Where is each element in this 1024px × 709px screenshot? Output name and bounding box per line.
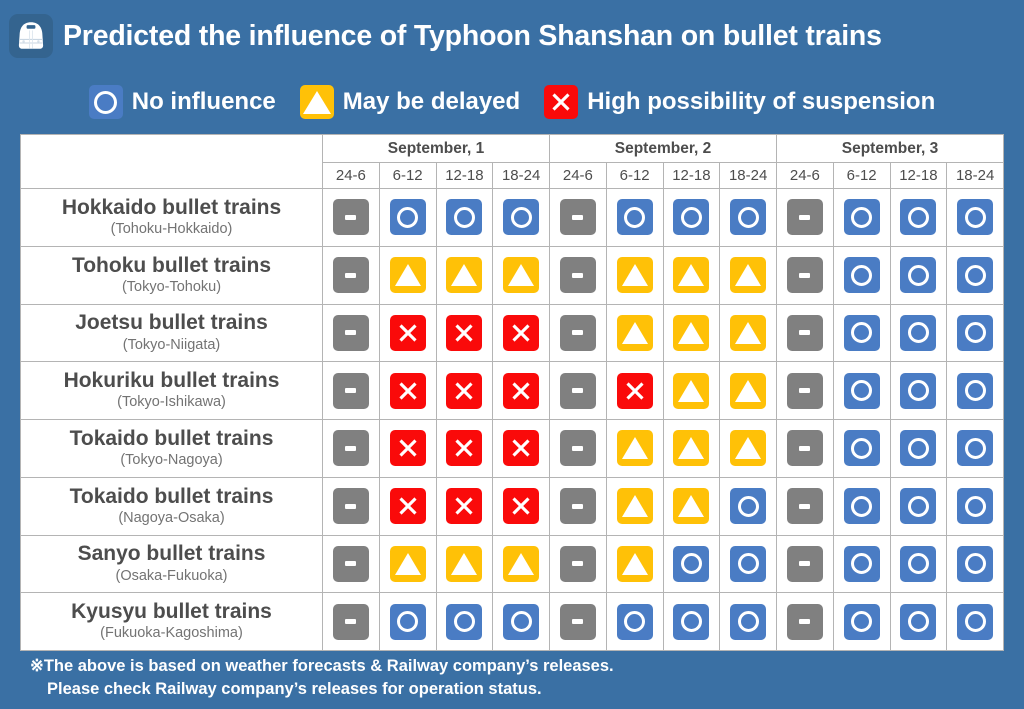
- dash-glyph: [799, 215, 810, 220]
- circle-icon: [89, 85, 123, 119]
- circle-icon: [673, 546, 709, 582]
- forecast-icon-wrap: [777, 546, 833, 582]
- forecast-icon-wrap: [437, 315, 493, 351]
- slot-header-d1-s3: 12-18: [436, 163, 493, 189]
- forecast-cell: [550, 189, 607, 247]
- circle-glyph: [851, 553, 872, 574]
- forecast-icon-wrap: [720, 546, 776, 582]
- forecast-cell: [323, 593, 380, 651]
- triangle-glyph: [395, 264, 421, 286]
- cross-icon: [446, 373, 482, 409]
- table-row: Tokaido bullet trains(Nagoya-Osaka): [21, 477, 1004, 535]
- circle-glyph: [397, 207, 418, 228]
- forecast-cell: [777, 246, 834, 304]
- triangle-glyph: [678, 437, 704, 459]
- circle-icon: [730, 604, 766, 640]
- forecast-cell: [379, 477, 436, 535]
- dash-glyph: [799, 619, 810, 624]
- slot-header-d1-s1: 24-6: [323, 163, 380, 189]
- forecast-cell: [493, 477, 550, 535]
- forecast-icon-wrap: [380, 373, 436, 409]
- circle-icon: [617, 604, 653, 640]
- dash-icon: [560, 199, 596, 235]
- circle-icon: [673, 604, 709, 640]
- forecast-icon-wrap: [720, 373, 776, 409]
- circle-glyph: [738, 207, 759, 228]
- circle-glyph: [624, 207, 645, 228]
- circle-icon: [957, 604, 993, 640]
- footer-note: ※The above is based on weather forecasts…: [30, 655, 990, 702]
- dash-glyph: [345, 619, 356, 624]
- circle-glyph: [94, 91, 117, 114]
- forecast-icon-wrap: [777, 488, 833, 524]
- forecast-cell: [947, 189, 1004, 247]
- triangle-icon: [446, 257, 482, 293]
- forecast-cell: [550, 477, 607, 535]
- forecast-cell: [436, 535, 493, 593]
- dash-icon: [333, 546, 369, 582]
- circle-glyph: [965, 438, 986, 459]
- triangle-icon: [673, 373, 709, 409]
- circle-glyph: [624, 611, 645, 632]
- forecast-icon-wrap: [493, 488, 549, 524]
- circle-glyph: [908, 496, 929, 517]
- day-header-row: September, 1 September, 2 September, 3: [21, 135, 1004, 163]
- forecast-icon-wrap: [323, 488, 379, 524]
- circle-glyph: [511, 611, 532, 632]
- forecast-icon-wrap: [323, 546, 379, 582]
- dash-icon: [787, 430, 823, 466]
- forecast-cell: [720, 593, 777, 651]
- dash-icon: [560, 430, 596, 466]
- forecast-cell: [833, 477, 890, 535]
- circle-glyph: [908, 322, 929, 343]
- slot-header-d3-s3: 12-18: [890, 163, 947, 189]
- circle-glyph: [908, 380, 929, 401]
- forecast-icon-wrap: [550, 430, 606, 466]
- forecast-icon-wrap: [834, 488, 890, 524]
- triangle-icon: [390, 546, 426, 582]
- triangle-glyph: [622, 553, 648, 575]
- forecast-icon-wrap: [834, 604, 890, 640]
- forecast-cell: [436, 593, 493, 651]
- forecast-icon-wrap: [664, 488, 720, 524]
- forecast-cell: [720, 477, 777, 535]
- forecast-icon-wrap: [720, 488, 776, 524]
- forecast-cell: [323, 420, 380, 478]
- slot-header-d2-s3: 12-18: [663, 163, 720, 189]
- dash-icon: [333, 315, 369, 351]
- forecast-icon-wrap: [323, 257, 379, 293]
- forecast-icon-wrap: [947, 199, 1003, 235]
- triangle-icon: [617, 488, 653, 524]
- footer-line-2: Please check Railway company’s releases …: [30, 678, 990, 701]
- forecast-icon-wrap: [720, 604, 776, 640]
- circle-glyph: [681, 553, 702, 574]
- slot-header-d3-s1: 24-6: [777, 163, 834, 189]
- route-name: Tokaido bullet trains: [21, 427, 322, 450]
- forecast-icon-wrap: [493, 257, 549, 293]
- forecast-cell: [890, 535, 947, 593]
- forecast-icon-wrap: [947, 315, 1003, 351]
- header: Predicted the influence of Typhoon Shans…: [0, 0, 1024, 72]
- circle-glyph: [738, 611, 759, 632]
- dash-glyph: [572, 446, 583, 451]
- forecast-icon-wrap: [777, 373, 833, 409]
- cross-icon: [446, 430, 482, 466]
- forecast-cell: [890, 246, 947, 304]
- triangle-glyph: [395, 553, 421, 575]
- circle-glyph: [851, 265, 872, 286]
- dash-icon: [787, 315, 823, 351]
- forecast-icon-wrap: [550, 546, 606, 582]
- dash-glyph: [345, 561, 356, 566]
- circle-icon: [390, 604, 426, 640]
- triangle-icon: [673, 430, 709, 466]
- forecast-cell: [606, 189, 663, 247]
- forecast-cell: [493, 362, 550, 420]
- forecast-icon-wrap: [323, 199, 379, 235]
- cross-glyph: [452, 436, 476, 460]
- slot-header-d2-s4: 18-24: [720, 163, 777, 189]
- forecast-cell: [323, 189, 380, 247]
- infographic-root: Predicted the influence of Typhoon Shans…: [0, 0, 1024, 709]
- route-label-cell: Tohoku bullet trains(Tokyo-Tohoku): [21, 246, 323, 304]
- triangle-icon: [730, 430, 766, 466]
- circle-icon: [957, 488, 993, 524]
- cross-glyph: [509, 494, 533, 518]
- forecast-icon-wrap: [550, 257, 606, 293]
- triangle-icon: [300, 85, 334, 119]
- dash-icon: [787, 257, 823, 293]
- forecast-cell: [890, 420, 947, 478]
- forecast-icon-wrap: [437, 546, 493, 582]
- slot-header-d3-s4: 18-24: [947, 163, 1004, 189]
- slot-header-d1-s2: 6-12: [379, 163, 436, 189]
- dash-icon: [787, 546, 823, 582]
- circle-glyph: [908, 207, 929, 228]
- dash-icon: [560, 315, 596, 351]
- forecast-cell: [663, 304, 720, 362]
- forecast-table-container: September, 1 September, 2 September, 3 2…: [20, 134, 1004, 651]
- dash-glyph: [572, 561, 583, 566]
- forecast-cell: [777, 535, 834, 593]
- forecast-cell: [436, 362, 493, 420]
- circle-glyph: [851, 611, 872, 632]
- forecast-icon-wrap: [550, 315, 606, 351]
- dash-glyph: [345, 446, 356, 451]
- circle-icon: [900, 199, 936, 235]
- forecast-cell: [550, 593, 607, 651]
- table-row: Sanyo bullet trains(Osaka-Fukuoka): [21, 535, 1004, 593]
- forecast-icon-wrap: [947, 373, 1003, 409]
- forecast-icon-wrap: [323, 604, 379, 640]
- forecast-cell: [493, 535, 550, 593]
- circle-icon: [730, 488, 766, 524]
- forecast-cell: [833, 362, 890, 420]
- triangle-glyph: [622, 495, 648, 517]
- forecast-icon-wrap: [493, 315, 549, 351]
- triangle-glyph: [451, 264, 477, 286]
- forecast-cell: [833, 189, 890, 247]
- triangle-glyph: [678, 264, 704, 286]
- forecast-cell: [323, 535, 380, 593]
- circle-icon: [957, 199, 993, 235]
- circle-glyph: [965, 496, 986, 517]
- forecast-cell: [777, 362, 834, 420]
- circle-icon: [446, 199, 482, 235]
- forecast-cell: [379, 189, 436, 247]
- dash-glyph: [572, 215, 583, 220]
- forecast-icon-wrap: [664, 430, 720, 466]
- forecast-cell: [550, 304, 607, 362]
- circle-icon: [617, 199, 653, 235]
- dash-glyph: [799, 446, 810, 451]
- forecast-cell: [890, 304, 947, 362]
- forecast-icon-wrap: [493, 546, 549, 582]
- triangle-glyph: [735, 437, 761, 459]
- dash-icon: [333, 604, 369, 640]
- forecast-cell: [379, 420, 436, 478]
- forecast-cell: [777, 593, 834, 651]
- forecast-cell: [890, 593, 947, 651]
- forecast-icon-wrap: [834, 373, 890, 409]
- forecast-icon-wrap: [380, 257, 436, 293]
- cross-glyph: [509, 321, 533, 345]
- table-row: Joetsu bullet trains(Tokyo-Niigata): [21, 304, 1004, 362]
- forecast-cell: [663, 362, 720, 420]
- forecast-cell: [833, 593, 890, 651]
- circle-icon: [503, 604, 539, 640]
- route-endpoints: (Fukuoka-Kagoshima): [21, 624, 322, 643]
- forecast-icon-wrap: [777, 430, 833, 466]
- forecast-cell: [493, 304, 550, 362]
- circle-glyph: [454, 207, 475, 228]
- legend-item-no-influence: No influence: [89, 85, 276, 119]
- forecast-cell: [720, 362, 777, 420]
- forecast-cell: [606, 420, 663, 478]
- forecast-icon-wrap: [777, 199, 833, 235]
- cross-icon: [503, 373, 539, 409]
- table-head: September, 1 September, 2 September, 3 2…: [21, 135, 1004, 189]
- triangle-icon: [730, 257, 766, 293]
- circle-glyph: [908, 611, 929, 632]
- triangle-icon: [730, 373, 766, 409]
- forecast-icon-wrap: [664, 546, 720, 582]
- forecast-icon-wrap: [664, 373, 720, 409]
- cross-glyph: [452, 379, 476, 403]
- forecast-cell: [550, 420, 607, 478]
- dash-glyph: [572, 273, 583, 278]
- route-label-cell: Sanyo bullet trains(Osaka-Fukuoka): [21, 535, 323, 593]
- legend-item-may-be-delayed: May be delayed: [300, 85, 520, 119]
- triangle-glyph: [735, 322, 761, 344]
- forecast-icon-wrap: [550, 604, 606, 640]
- forecast-icon-wrap: [493, 373, 549, 409]
- dash-glyph: [345, 504, 356, 509]
- page-title: Predicted the influence of Typhoon Shans…: [63, 20, 882, 53]
- dash-icon: [560, 546, 596, 582]
- forecast-cell: [947, 535, 1004, 593]
- forecast-cell: [436, 246, 493, 304]
- forecast-cell: [833, 304, 890, 362]
- forecast-cell: [379, 362, 436, 420]
- triangle-glyph: [735, 380, 761, 402]
- circle-glyph: [681, 611, 702, 632]
- triangle-icon: [673, 488, 709, 524]
- dash-glyph: [572, 504, 583, 509]
- cross-icon: [446, 315, 482, 351]
- forecast-icon-wrap: [947, 430, 1003, 466]
- forecast-cell: [550, 246, 607, 304]
- forecast-icon-wrap: [607, 257, 663, 293]
- forecast-icon-wrap: [493, 604, 549, 640]
- circle-icon: [900, 315, 936, 351]
- route-name: Sanyo bullet trains: [21, 542, 322, 565]
- route-endpoints: (Tokyo-Nagoya): [21, 451, 322, 470]
- circle-glyph: [965, 611, 986, 632]
- cross-glyph: [452, 494, 476, 518]
- circle-icon: [844, 257, 880, 293]
- forecast-icon-wrap: [891, 199, 947, 235]
- dash-glyph: [345, 273, 356, 278]
- forecast-icon-wrap: [607, 546, 663, 582]
- forecast-cell: [436, 420, 493, 478]
- triangle-glyph: [303, 91, 331, 114]
- triangle-glyph: [622, 322, 648, 344]
- triangle-icon: [617, 430, 653, 466]
- slot-header-d2-s2: 6-12: [606, 163, 663, 189]
- triangle-icon: [673, 315, 709, 351]
- circle-icon: [900, 430, 936, 466]
- circle-icon: [730, 546, 766, 582]
- dash-icon: [787, 488, 823, 524]
- cross-icon: [446, 488, 482, 524]
- forecast-icon-wrap: [437, 257, 493, 293]
- forecast-icon-wrap: [323, 430, 379, 466]
- triangle-glyph: [678, 322, 704, 344]
- circle-icon: [844, 488, 880, 524]
- circle-glyph: [397, 611, 418, 632]
- cross-icon: [503, 488, 539, 524]
- route-label-cell: Kyusyu bullet trains(Fukuoka-Kagoshima): [21, 593, 323, 651]
- day-header-1: September, 2: [550, 135, 777, 163]
- slot-header-d3-s2: 6-12: [833, 163, 890, 189]
- forecast-icon-wrap: [550, 488, 606, 524]
- route-name: Hokuriku bullet trains: [21, 369, 322, 392]
- legend-label-no-influence: No influence: [132, 88, 276, 116]
- forecast-table: September, 1 September, 2 September, 3 2…: [20, 134, 1004, 651]
- forecast-icon-wrap: [834, 430, 890, 466]
- forecast-cell: [777, 420, 834, 478]
- forecast-icon-wrap: [891, 430, 947, 466]
- circle-icon: [900, 604, 936, 640]
- footer-line-1: ※The above is based on weather forecasts…: [30, 655, 990, 678]
- route-name: Tohoku bullet trains: [21, 254, 322, 277]
- forecast-icon-wrap: [891, 373, 947, 409]
- circle-glyph: [965, 380, 986, 401]
- cross-glyph: [396, 494, 420, 518]
- dash-glyph: [345, 330, 356, 335]
- route-name: Kyusyu bullet trains: [21, 600, 322, 623]
- triangle-icon: [617, 546, 653, 582]
- table-row: Kyusyu bullet trains(Fukuoka-Kagoshima): [21, 593, 1004, 651]
- dash-icon: [333, 199, 369, 235]
- dash-icon: [560, 604, 596, 640]
- triangle-glyph: [622, 437, 648, 459]
- cross-icon: [390, 373, 426, 409]
- circle-glyph: [908, 553, 929, 574]
- forecast-icon-wrap: [380, 199, 436, 235]
- forecast-cell: [720, 535, 777, 593]
- circle-glyph: [851, 322, 872, 343]
- circle-icon: [957, 373, 993, 409]
- cross-glyph: [452, 321, 476, 345]
- triangle-icon: [503, 546, 539, 582]
- forecast-icon-wrap: [664, 199, 720, 235]
- forecast-icon-wrap: [777, 257, 833, 293]
- day-header-2: September, 3: [777, 135, 1004, 163]
- forecast-cell: [323, 246, 380, 304]
- circle-icon: [957, 430, 993, 466]
- cross-glyph: [509, 379, 533, 403]
- forecast-cell: [606, 362, 663, 420]
- forecast-icon-wrap: [323, 373, 379, 409]
- triangle-icon: [617, 257, 653, 293]
- forecast-cell: [550, 535, 607, 593]
- cross-glyph: [396, 379, 420, 403]
- cross-glyph: [396, 436, 420, 460]
- dash-icon: [560, 257, 596, 293]
- forecast-icon-wrap: [720, 199, 776, 235]
- forecast-cell: [947, 593, 1004, 651]
- forecast-icon-wrap: [380, 604, 436, 640]
- circle-icon: [957, 315, 993, 351]
- triangle-glyph: [735, 264, 761, 286]
- dash-glyph: [572, 619, 583, 624]
- cross-glyph: [509, 436, 533, 460]
- forecast-icon-wrap: [323, 315, 379, 351]
- circle-icon: [900, 488, 936, 524]
- forecast-icon-wrap: [380, 488, 436, 524]
- cross-icon: [544, 85, 578, 119]
- triangle-icon: [390, 257, 426, 293]
- cross-icon: [390, 488, 426, 524]
- forecast-icon-wrap: [777, 315, 833, 351]
- forecast-cell: [379, 593, 436, 651]
- forecast-cell: [663, 246, 720, 304]
- forecast-cell: [833, 420, 890, 478]
- forecast-icon-wrap: [380, 430, 436, 466]
- forecast-icon-wrap: [891, 257, 947, 293]
- route-label-cell: Hokkaido bullet trains(Tohoku-Hokkaido): [21, 189, 323, 247]
- cross-icon: [617, 373, 653, 409]
- forecast-icon-wrap: [834, 199, 890, 235]
- dash-icon: [560, 488, 596, 524]
- forecast-icon-wrap: [437, 430, 493, 466]
- forecast-cell: [947, 304, 1004, 362]
- circle-icon: [957, 257, 993, 293]
- route-endpoints: (Tohoku-Hokkaido): [21, 220, 322, 239]
- cross-icon: [503, 315, 539, 351]
- forecast-icon-wrap: [380, 315, 436, 351]
- dash-glyph: [799, 504, 810, 509]
- forecast-cell: [947, 420, 1004, 478]
- triangle-glyph: [508, 264, 534, 286]
- forecast-cell: [663, 593, 720, 651]
- dash-glyph: [799, 388, 810, 393]
- forecast-icon-wrap: [891, 315, 947, 351]
